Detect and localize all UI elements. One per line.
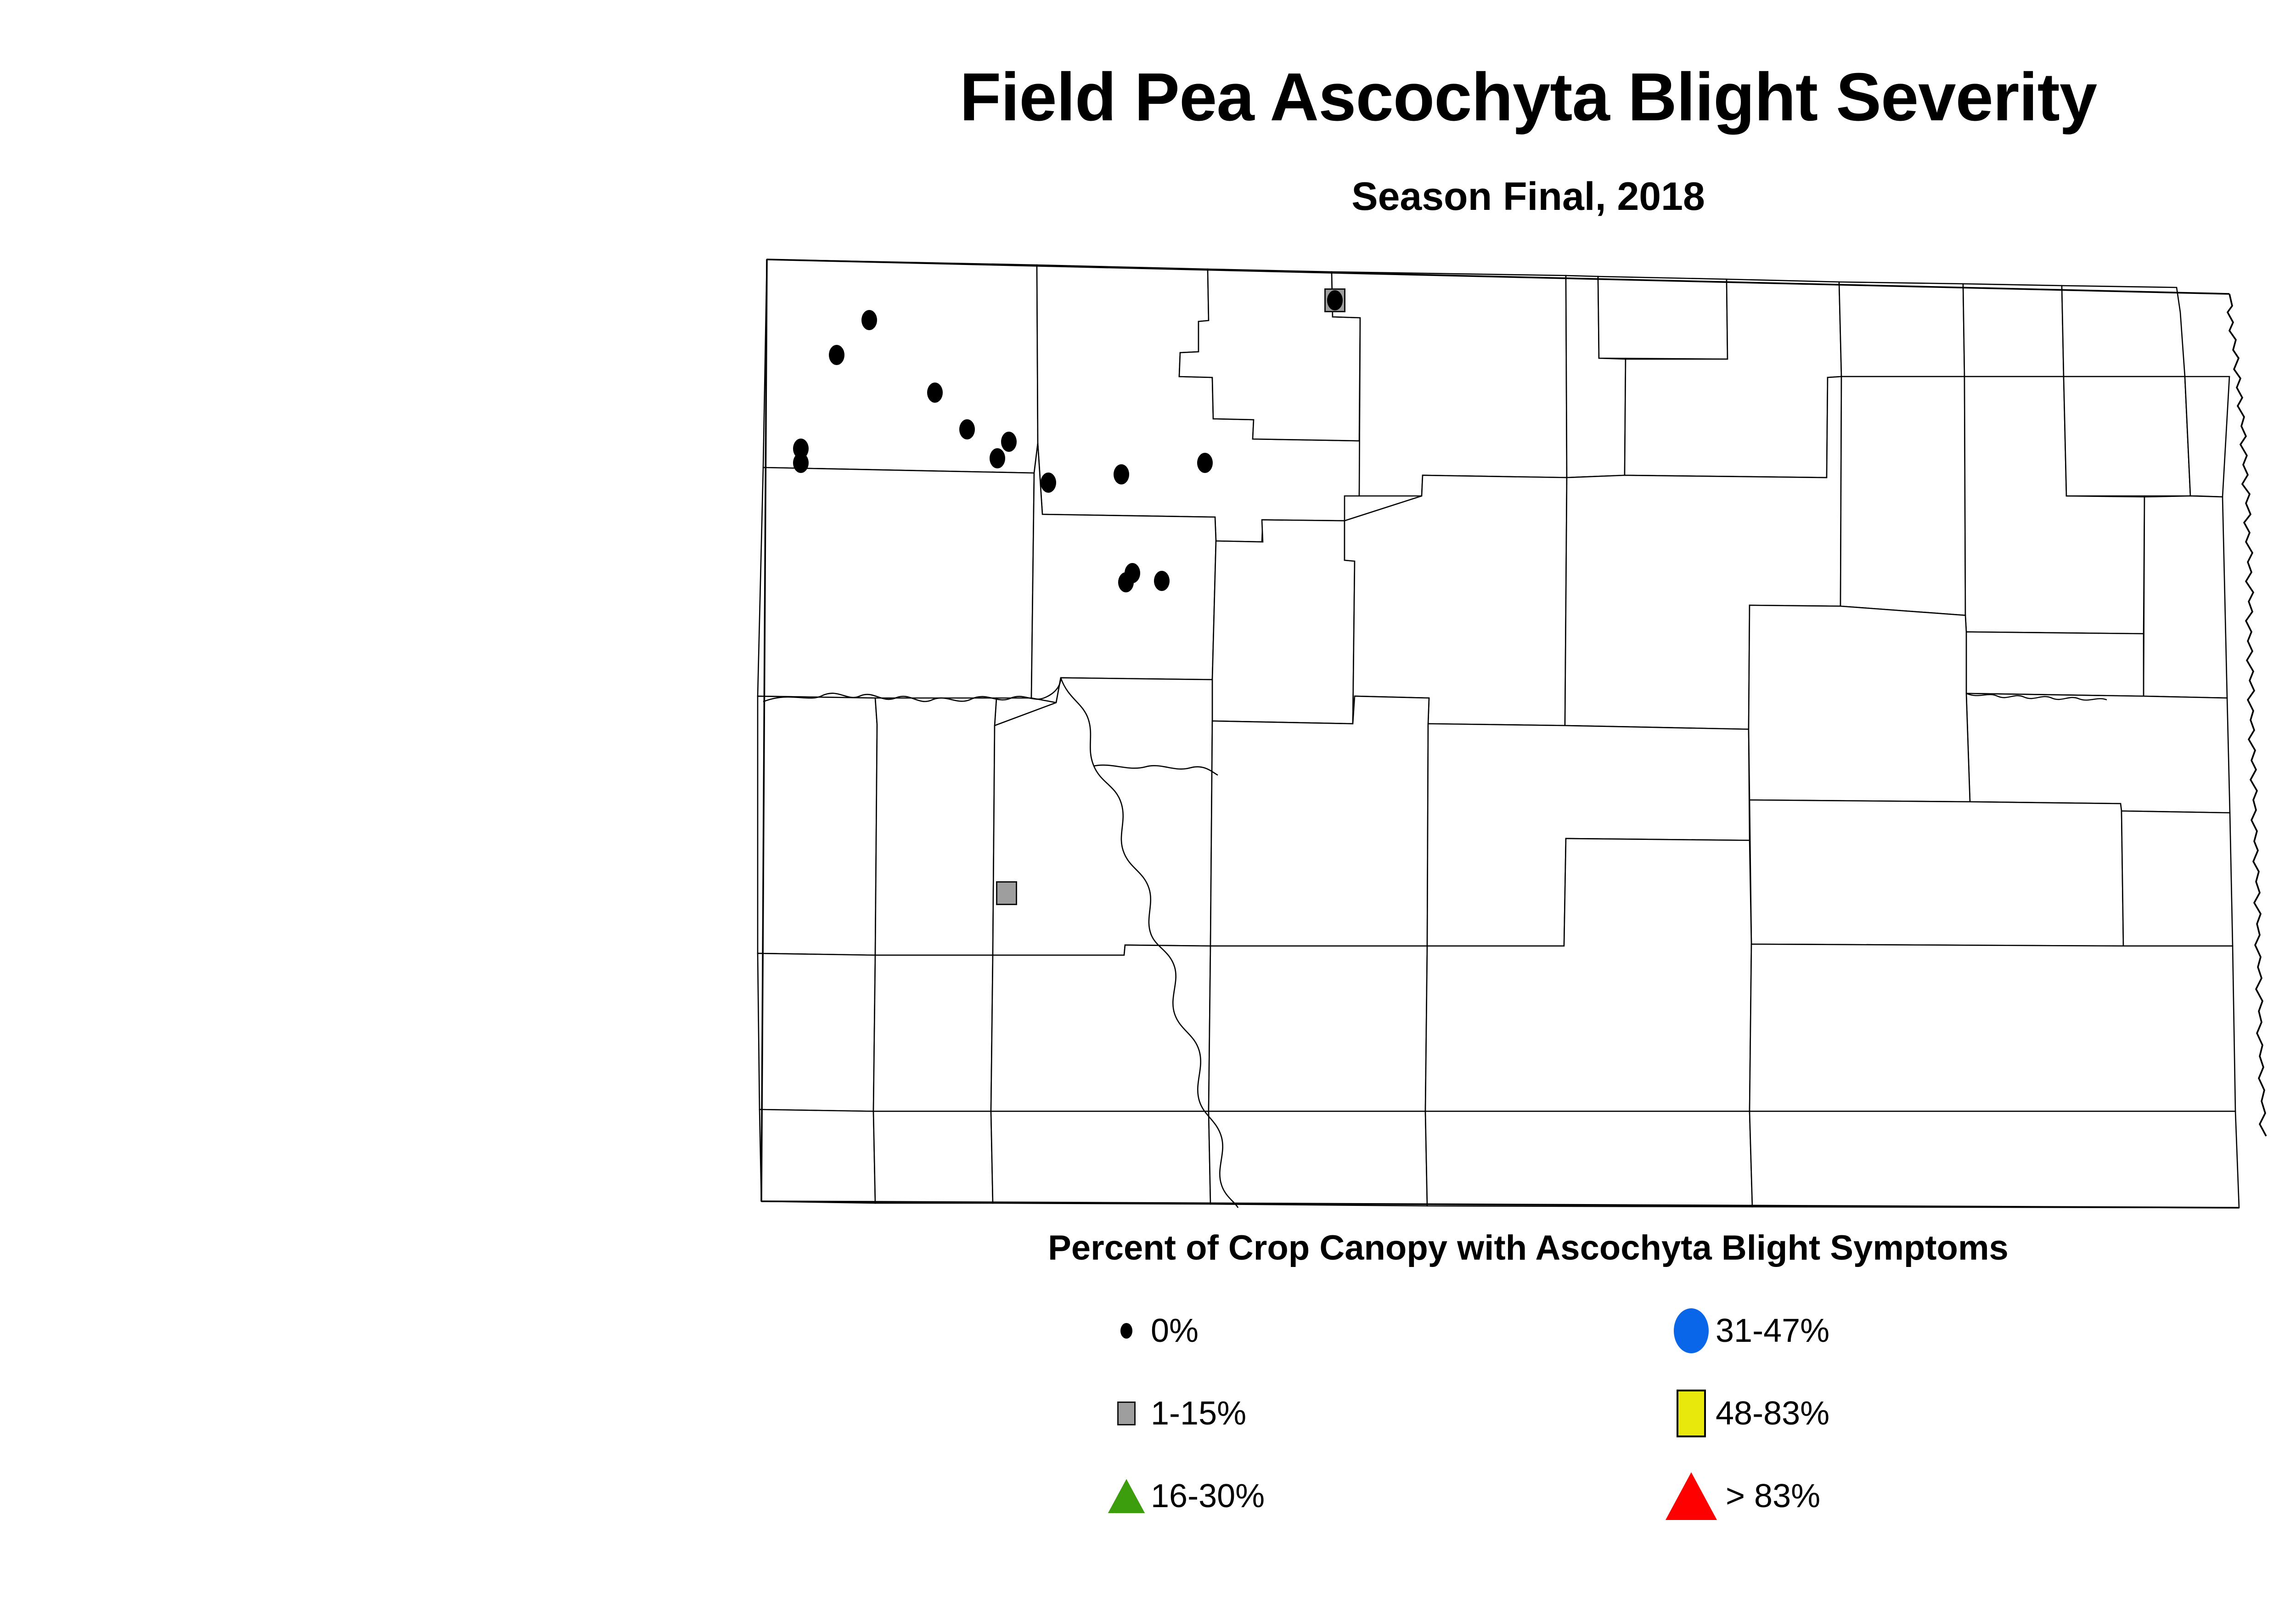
page-title: Field Pea Ascochyta Blight Severity bbox=[0, 63, 2296, 131]
map-marker-dot[interactable] bbox=[959, 419, 975, 439]
square-yellow-icon bbox=[1667, 1389, 1716, 1438]
circle-blue-icon bbox=[1667, 1306, 1716, 1355]
legend-label: 0% bbox=[1151, 1314, 1199, 1347]
map-marker-dot[interactable] bbox=[829, 345, 844, 365]
map-caption: Percent of Crop Canopy with Ascochyta Bl… bbox=[0, 1231, 2296, 1266]
legend-item-1-15pct[interactable]: 1-15% bbox=[1102, 1389, 1246, 1438]
map-marker-dot[interactable] bbox=[1154, 571, 1170, 591]
map-marker-dot[interactable] bbox=[1327, 290, 1343, 310]
legend: 0% 1-15% 16-30% 31-47% 48-83% > 83% bbox=[1102, 1306, 2135, 1564]
circle-small-black-icon bbox=[1102, 1306, 1151, 1355]
legend-label: 16-30% bbox=[1151, 1480, 1265, 1513]
map-marker-dot[interactable] bbox=[861, 310, 877, 330]
square-gray-icon bbox=[1102, 1389, 1151, 1438]
legend-item-48-83pct[interactable]: 48-83% bbox=[1667, 1389, 1829, 1438]
legend-item-over-83pct[interactable]: > 83% bbox=[1667, 1472, 1820, 1520]
map-figure: Field Pea Ascochyta Blight Severity Seas… bbox=[0, 0, 2296, 1610]
legend-label: 1-15% bbox=[1151, 1397, 1246, 1430]
map-marker-dot[interactable] bbox=[1114, 464, 1129, 484]
map-marker-dot[interactable] bbox=[1001, 432, 1017, 452]
north-dakota-county-map[interactable] bbox=[739, 239, 2296, 1226]
map-marker-dot[interactable] bbox=[1197, 453, 1213, 473]
map-marker-dot[interactable] bbox=[793, 453, 809, 473]
map-svg bbox=[739, 239, 2296, 1226]
map-marker-square-gray[interactable] bbox=[996, 881, 1017, 905]
page-subtitle: Season Final, 2018 bbox=[0, 177, 2296, 216]
legend-item-0pct[interactable]: 0% bbox=[1102, 1306, 1199, 1355]
triangle-red-icon bbox=[1667, 1472, 1716, 1520]
map-marker-dot[interactable] bbox=[1118, 572, 1134, 592]
legend-item-31-47pct[interactable]: 31-47% bbox=[1667, 1306, 1829, 1355]
map-marker-dot[interactable] bbox=[1041, 473, 1056, 493]
county-polygons bbox=[758, 259, 2239, 1208]
legend-label: > 83% bbox=[1726, 1480, 1820, 1513]
legend-label: 31-47% bbox=[1716, 1314, 1829, 1347]
legend-item-16-30pct[interactable]: 16-30% bbox=[1102, 1472, 1265, 1520]
legend-label: 48-83% bbox=[1716, 1397, 1829, 1430]
map-marker-dot[interactable] bbox=[990, 448, 1005, 468]
map-marker-dot[interactable] bbox=[927, 383, 943, 403]
triangle-green-icon bbox=[1102, 1472, 1151, 1520]
